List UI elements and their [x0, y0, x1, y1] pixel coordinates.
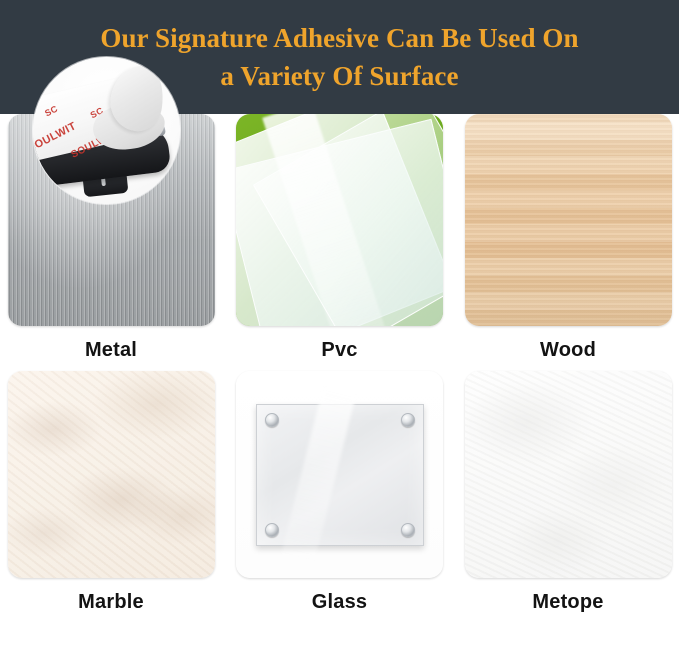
surface-label-marble: Marble: [78, 591, 144, 614]
surface-cell-metope: Metope: [463, 371, 673, 639]
surface-cell-wood: Wood: [463, 114, 673, 382]
glass-standoff-bottom-left: [265, 523, 279, 537]
surface-image-metope: [465, 371, 672, 578]
surface-cell-glass: Glass: [235, 371, 445, 639]
brand-text-sc-top: SC: [43, 103, 59, 118]
glass-standoff-top-right: [401, 413, 415, 427]
surface-label-wood: Wood: [540, 339, 596, 362]
page-title-line-1: Our Signature Adhesive Can Be Used On: [100, 19, 578, 57]
surface-cell-pvc: Pvc: [235, 114, 445, 382]
adhesive-closeup-badge: SC SC SOULWIT SOULWIT: [33, 57, 180, 204]
surface-label-metal: Metal: [85, 339, 137, 362]
surface-cell-marble: Marble: [6, 371, 216, 639]
surface-label-glass: Glass: [312, 591, 367, 614]
surface-label-pvc: Pvc: [321, 339, 357, 362]
surface-image-glass: [236, 371, 443, 578]
page-title-line-2: a Variety Of Surface: [220, 57, 458, 95]
surface-label-metope: Metope: [532, 591, 603, 614]
glass-panel: [256, 404, 424, 546]
badge-inner: SC SC SOULWIT SOULWIT: [33, 57, 180, 204]
surface-row-bottom: Marble Glass Metope: [0, 371, 679, 639]
glass-standoff-top-left: [265, 413, 279, 427]
glass-standoff-bottom-right: [401, 523, 415, 537]
surface-image-wood: [465, 114, 672, 326]
surface-image-pvc: [236, 114, 443, 326]
glass-gloss-highlight: [279, 385, 356, 568]
surface-image-marble: [8, 371, 215, 578]
